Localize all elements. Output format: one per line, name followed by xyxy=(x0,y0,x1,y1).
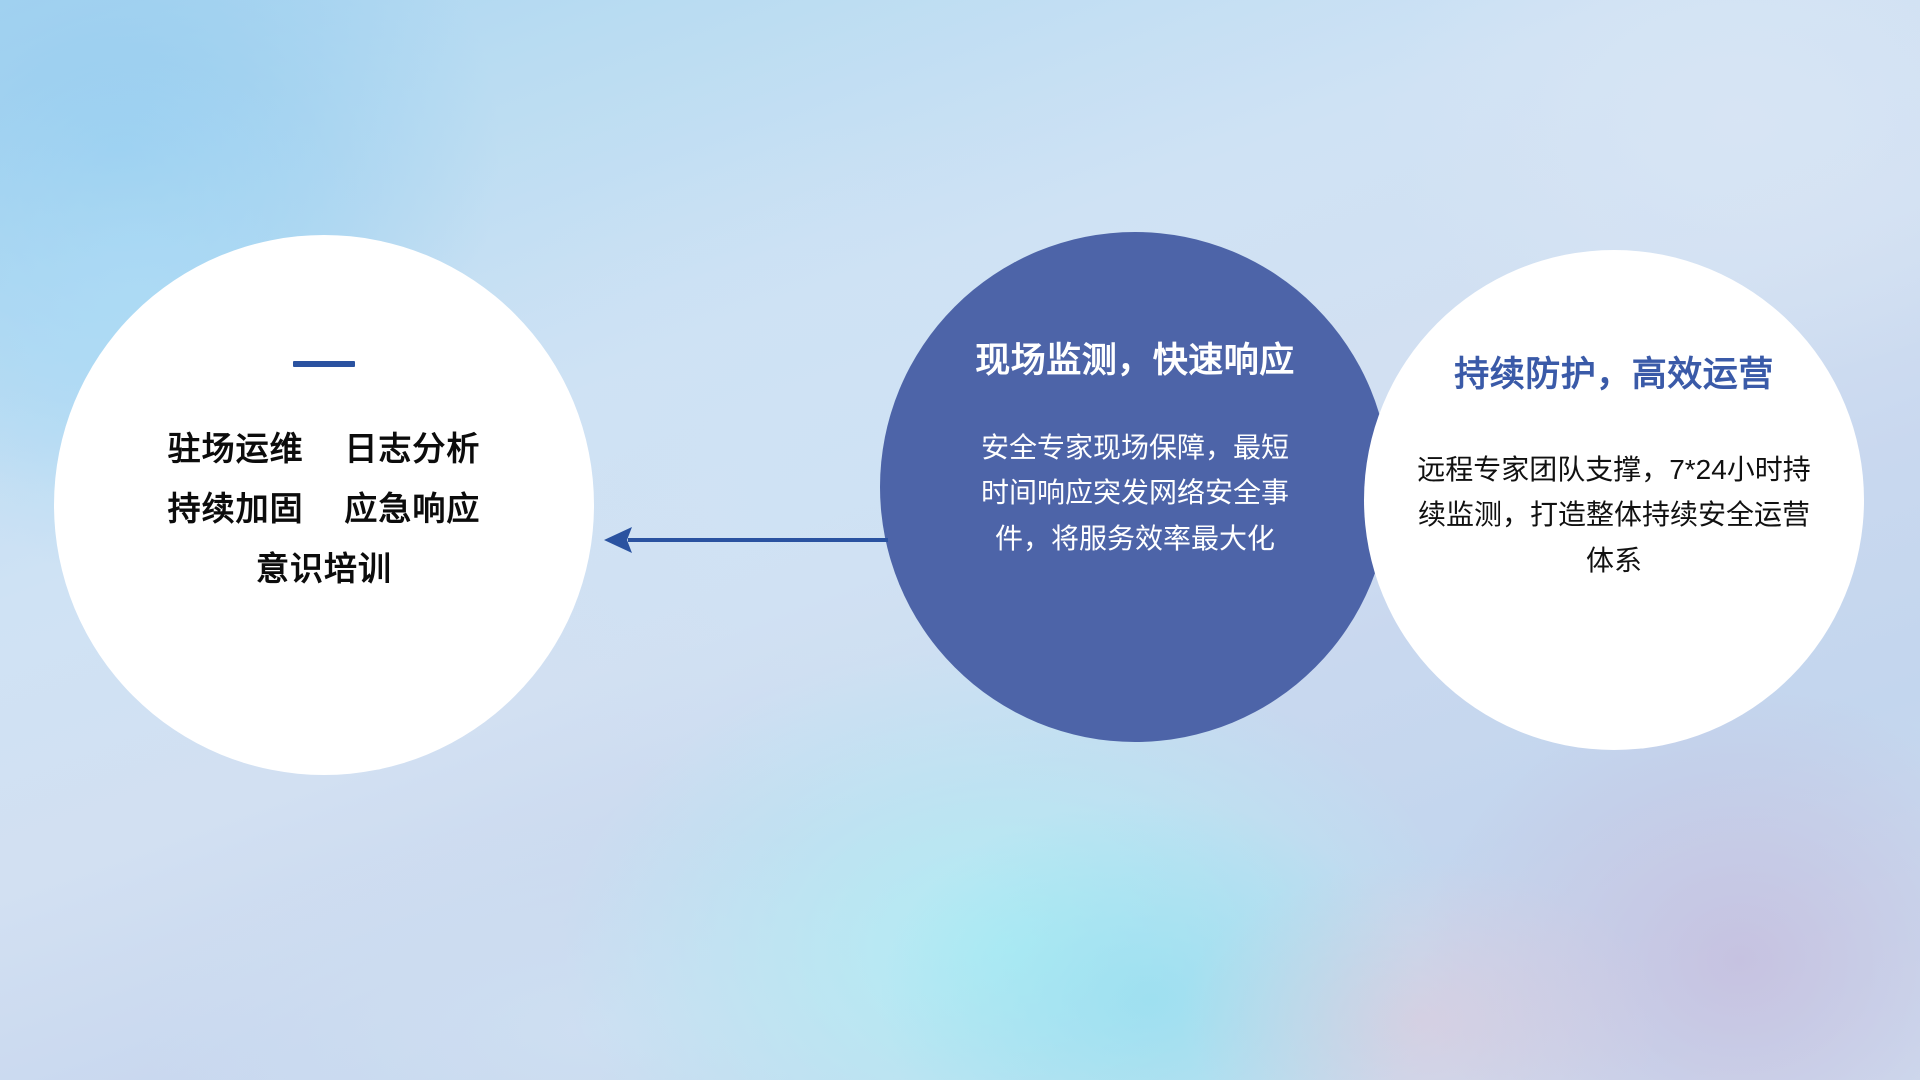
slide-canvas: 驻场运维 日志分析 持续加固 应急响应 意识培训 现场监测，快速响应 安全专家现… xyxy=(0,0,1920,1080)
service-item-row: 驻场运维 日志分析 xyxy=(168,419,481,479)
right-circle-body: 远程专家团队支撑，7*24小时持续监测，打造整体持续安全运营体系 xyxy=(1414,447,1814,583)
service-item-list: 驻场运维 日志分析 持续加固 应急响应 意识培训 xyxy=(168,419,481,599)
left-pointing-arrow-icon xyxy=(600,512,890,568)
right-remote-circle[interactable]: 持续防护，高效运营 远程专家团队支撑，7*24小时持续监测，打造整体持续安全运营… xyxy=(1364,250,1864,750)
right-circle-title: 持续防护，高效运营 xyxy=(1454,346,1774,397)
divider-line-icon xyxy=(293,361,355,367)
middle-circle-title: 现场监测，快速响应 xyxy=(975,332,1295,383)
service-item-row: 意识培训 xyxy=(168,539,481,599)
middle-onsite-circle[interactable]: 现场监测，快速响应 安全专家现场保障，最短时间响应突发网络安全事件，将服务效率最… xyxy=(880,232,1390,742)
middle-circle-body: 安全专家现场保障，最短时间响应突发网络安全事件，将服务效率最大化 xyxy=(970,425,1300,561)
left-service-circle[interactable]: 驻场运维 日志分析 持续加固 应急响应 意识培训 xyxy=(54,235,594,775)
service-item-row: 持续加固 应急响应 xyxy=(168,479,481,539)
